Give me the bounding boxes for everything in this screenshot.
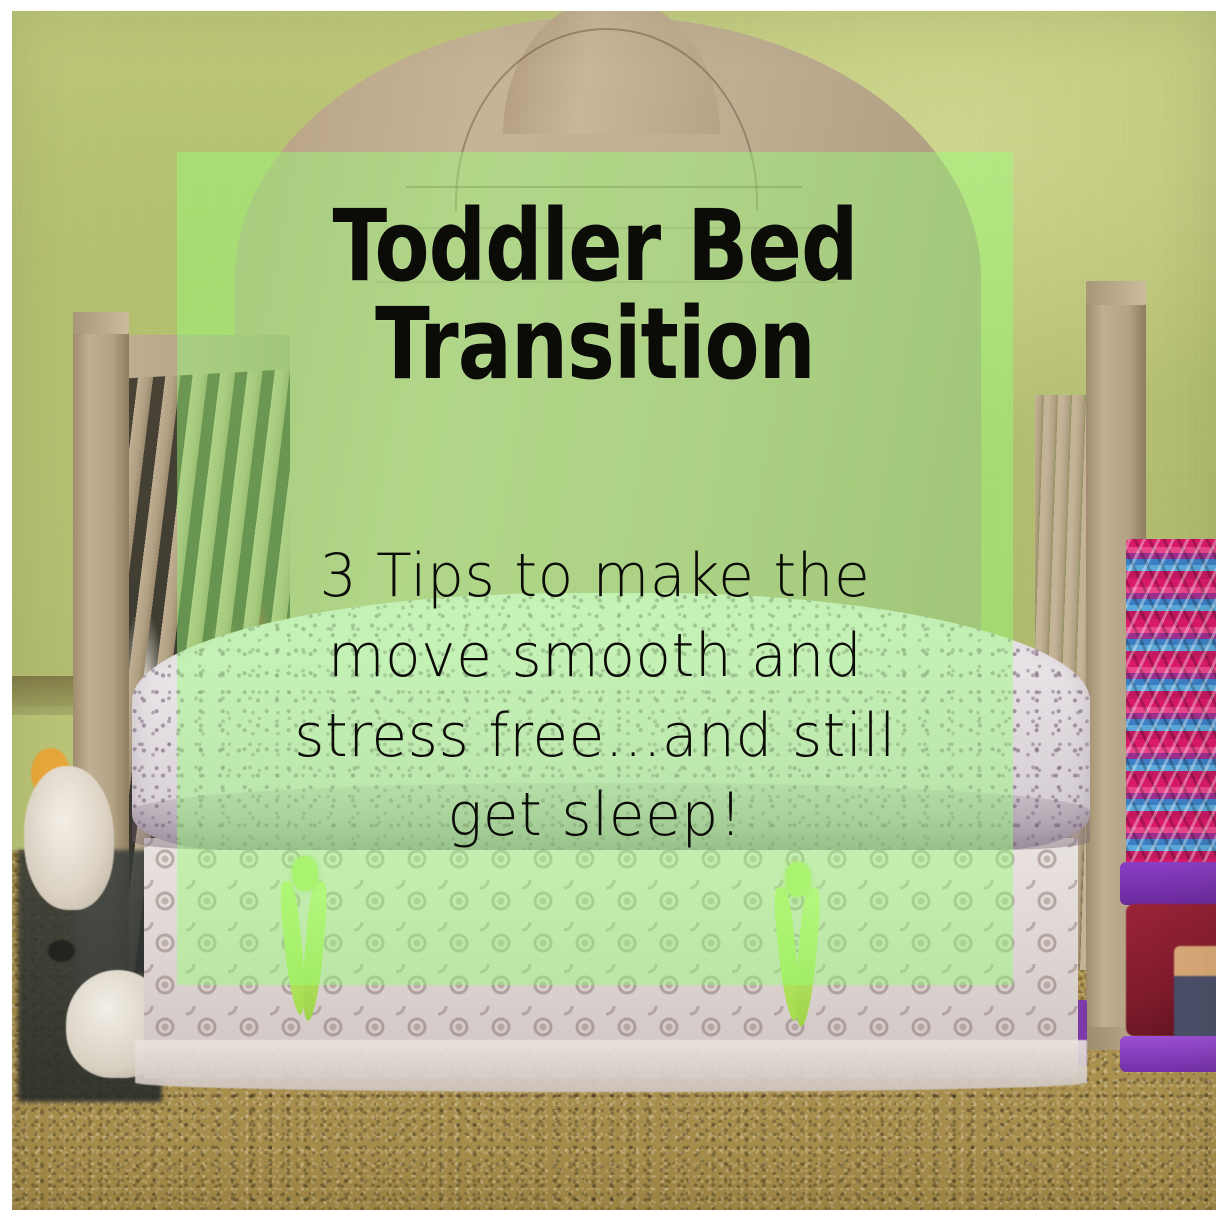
subtitle-line-2: move smooth and	[190, 617, 1001, 697]
purple-cot-frame-bottom	[1120, 1036, 1216, 1072]
chevron-zigzag-pattern	[1126, 539, 1216, 875]
pin-title: Toddler Bed Transition	[219, 198, 971, 394]
post-cap-left	[73, 312, 128, 335]
pin-subtitle: 3 Tips to make the move smooth and stres…	[190, 537, 1001, 856]
dark-object-on-floor	[48, 940, 74, 962]
chevron-pattern-toddler-cot	[1126, 539, 1216, 875]
purple-cot-frame-top	[1120, 862, 1216, 905]
title-line-1: Toddler Bed	[219, 198, 971, 296]
subtitle-line-4: get sleep!	[190, 776, 1001, 856]
nursery-photo: Toddler Bed Transition 3 Tips to make th…	[12, 11, 1216, 1210]
pin-card: Toddler Bed Transition 3 Tips to make th…	[0, 0, 1228, 1228]
subtitle-line-1: 3 Tips to make the	[190, 537, 1001, 617]
title-line-2: Transition	[219, 296, 971, 394]
subtitle-line-3: stress free...and still	[190, 697, 1001, 777]
overlay-text-layer: Toddler Bed Transition 3 Tips to make th…	[177, 152, 1013, 985]
bed-skirt-hem	[135, 1040, 1087, 1093]
post-cap-right	[1086, 281, 1146, 305]
stuffed-animal-left	[24, 766, 114, 910]
